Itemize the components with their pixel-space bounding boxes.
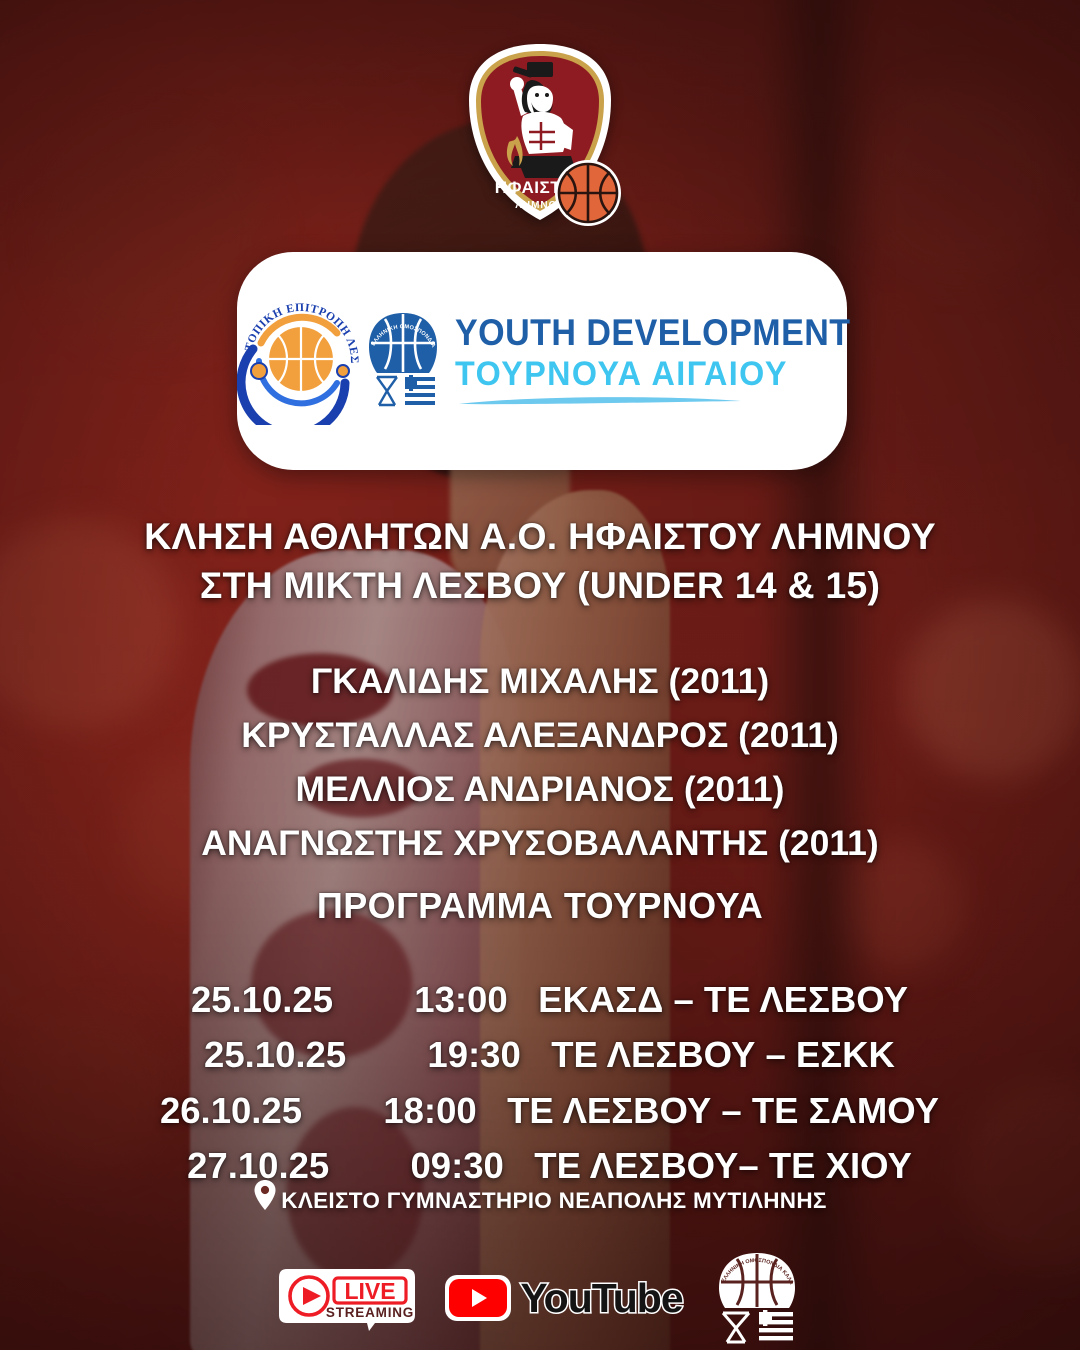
live-label: LIVE	[345, 1278, 396, 1304]
list-item: ΓΚΑΛΙΔΗΣ ΜΙΧΑΛΗΣ (2011)	[0, 655, 1080, 709]
basketball-icon	[553, 158, 623, 228]
schedule-match: ΤΕ ΛΕΣΒΟΥ– ΤΕ ΧΙΟΥ	[534, 1145, 912, 1186]
tournament-subtitle: ΤΟΥΡΝΟΥΑ ΑΙΓΑΙΟΥ	[455, 357, 863, 391]
youtube-play-icon[interactable]	[445, 1275, 511, 1321]
table-row: 25.10.25 19:30 ΤΕ ΛΕΣΒΟΥ – ΕΣΚΚ	[0, 1027, 1080, 1082]
tournament-title-block: YOUTH DEVELOPMENT ΤΟΥΡΝΟΥΑ ΑΙΓΑΙΟΥ	[455, 314, 885, 409]
schedule-time: 09:30	[410, 1145, 503, 1186]
schedule-time: 19:30	[427, 1034, 520, 1075]
list-item: ΜΕΛΛΙΟΣ ΑΝΔΡΙΑΝΟΣ (2011)	[0, 763, 1080, 817]
youtube-label: YouTube	[520, 1275, 682, 1322]
schedule-date: 26.10.25	[141, 1083, 321, 1138]
schedule-match: ΤΕ ΛΕΣΒΟΥ – ΤΕ ΣΑΜΟΥ	[507, 1090, 939, 1131]
table-row: 25.10.25 13:00 ΕΚΑΣΔ – ΤΕ ΛΕΣΒΟΥ	[0, 972, 1080, 1027]
live-streaming-badge[interactable]: LIVE STREAMING	[277, 1265, 417, 1331]
tournament-logo-card: ΤΟΠΙΚΗ ΕΠΙΤΡΟΠΗ ΛΕΣΒΟΥ	[237, 252, 847, 470]
eok-hellenic-basketball-federation-logo: ΕΛΛΗΝΙΚΗ ΟΜΟΣΠΟΝΔΙΑ ΚΑΛΑΘΟΣΦΑΙΡΙΣΗΣ	[365, 309, 441, 413]
schedule-time: 18:00	[383, 1090, 476, 1131]
venue-text: ΚΛΕΙΣΤΟ ΓΥΜΝΑΣΤΗΡΙΟ ΝΕΑΠΟΛΗΣ ΜΥΤΙΛΗΝΗΣ	[281, 1188, 826, 1214]
lesvos-committee-logo-wrap: ΤΟΠΙΚΗ ΕΠΙΤΡΟΠΗ ΛΕΣΒΟΥ	[237, 297, 365, 425]
headline-line-1: ΚΛΗΣΗ ΑΘΛΗΤΩΝ Α.Ο. ΗΦΑΙΣΤΟΥ ΛΗΜΝΟΥ	[0, 512, 1080, 561]
schedule-date: 25.10.25	[172, 972, 352, 1027]
program-heading: ΠΡΟΓΡΑΜΜΑ ΤΟΥΡΝΟΥΑ	[0, 885, 1080, 927]
footer-logos: LIVE STREAMING YouTube	[0, 1248, 1080, 1348]
poster-root: ΗΦΑΙΣΤΟΣ ΛΗΜΝΟΥ	[0, 0, 1080, 1350]
youtube-logo[interactable]: YouTube	[445, 1275, 682, 1322]
list-item: ΚΡΥΣΤΑΛΛΑΣ ΑΛΕΞΑΝΔΡΟΣ (2011)	[0, 709, 1080, 763]
venue-line: ΚΛΕΙΣΤΟ ΓΥΜΝΑΣΤΗΡΙΟ ΝΕΑΠΟΛΗΣ ΜΥΤΙΛΗΝΗΣ	[0, 1188, 1080, 1214]
table-row: 26.10.25 18:00 ΤΕ ΛΕΣΒΟΥ – ΤΕ ΣΑΜΟΥ	[0, 1083, 1080, 1138]
poster-content: ΗΦΑΙΣΤΟΣ ΛΗΜΝΟΥ	[0, 0, 1080, 1350]
headline-line-2: ΣΤΗ ΜΙΚΤΗ ΛΕΣΒΟΥ (UNDER 14 & 15)	[0, 561, 1080, 610]
streaming-label: STREAMING	[326, 1305, 414, 1320]
schedule-match: ΤΕ ΛΕΣΒΟΥ – ΕΣΚΚ	[551, 1034, 895, 1075]
schedule-table: 25.10.25 13:00 ΕΚΑΣΔ – ΤΕ ΛΕΣΒΟΥ 25.10.2…	[0, 972, 1080, 1194]
tournament-branding: ΕΛΛΗΝΙΚΗ ΟΜΟΣΠΟΝΔΙΑ ΚΑΛΑΘΟΣΦΑΙΡΙΣΗΣ YOUT…	[365, 309, 913, 413]
club-crest: ΗΦΑΙΣΤΟΣ ΛΗΜΝΟΥ	[455, 38, 625, 228]
eok-federation-logo: ΕΛΛΗΝΙΚΗ ΟΜΟΣΠΟΝΔΙΑ ΚΑΛΑΘΟΣΦΑΙΡΙΣΗΣ	[711, 1250, 803, 1346]
schedule-date: 25.10.25	[185, 1027, 365, 1082]
brush-underline-icon	[455, 393, 745, 409]
location-pin-icon	[253, 1179, 277, 1211]
list-item: ΑΝΑΓΝΩΣΤΗΣ ΧΡΥΣΟΒΑΛΑΝΤΗΣ (2011)	[0, 817, 1080, 871]
schedule-match: ΕΚΑΣΔ – ΤΕ ΛΕΣΒΟΥ	[538, 979, 908, 1020]
player-list: ΓΚΑΛΙΔΗΣ ΜΙΧΑΛΗΣ (2011) ΚΡΥΣΤΑΛΛΑΣ ΑΛΕΞΑ…	[0, 655, 1080, 871]
page-title: ΚΛΗΣΗ ΑΘΛΗΤΩΝ Α.Ο. ΗΦΑΙΣΤΟΥ ΛΗΜΝΟΥ ΣΤΗ Μ…	[0, 512, 1080, 610]
live-streaming-icon[interactable]: LIVE STREAMING	[277, 1265, 417, 1331]
topiki-epitropi-lesvou-logo: ΤΟΠΙΚΗ ΕΠΙΤΡΟΠΗ ΛΕΣΒΟΥ	[237, 297, 365, 425]
schedule-time: 13:00	[414, 979, 507, 1020]
youth-development-title: YOUTH DEVELOPMENT	[455, 314, 851, 351]
table-row: 27.10.25 09:30 ΤΕ ΛΕΣΒΟΥ– ΤΕ ΧΙΟΥ	[0, 1138, 1080, 1193]
